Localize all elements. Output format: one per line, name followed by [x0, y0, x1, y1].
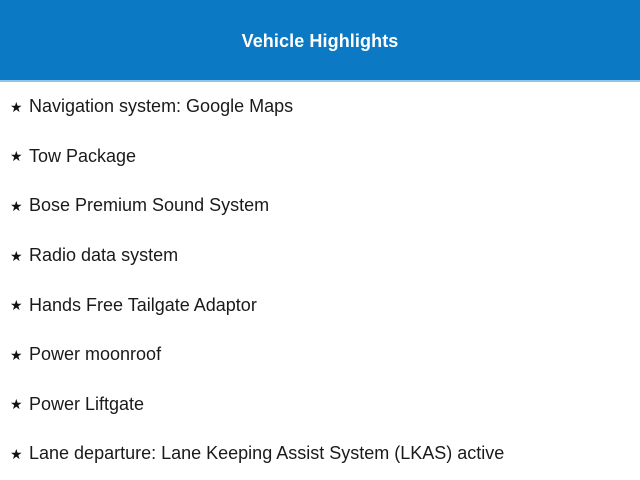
- star-icon: ★: [10, 447, 29, 461]
- list-item: ★ Power Liftgate: [0, 380, 640, 430]
- list-item: ★ Navigation system: Google Maps: [0, 82, 640, 132]
- list-item: ★ Power moonroof: [0, 330, 640, 380]
- star-icon: ★: [10, 298, 29, 312]
- vehicle-highlights-panel: Vehicle Highlights ★ Navigation system: …: [0, 0, 640, 480]
- list-item-label: Navigation system: Google Maps: [29, 96, 293, 117]
- star-icon: ★: [10, 199, 29, 213]
- list-item: ★ Bose Premium Sound System: [0, 181, 640, 231]
- star-icon: ★: [10, 397, 29, 411]
- list-item-label: Power Liftgate: [29, 394, 144, 415]
- star-icon: ★: [10, 348, 29, 362]
- list-item-label: Radio data system: [29, 245, 178, 266]
- star-icon: ★: [10, 249, 29, 263]
- list-item: ★ Tow Package: [0, 132, 640, 182]
- list-item: ★ Hands Free Tailgate Adaptor: [0, 280, 640, 330]
- star-icon: ★: [10, 100, 29, 114]
- list-item-label: Tow Package: [29, 146, 136, 167]
- list-item: ★ Radio data system: [0, 231, 640, 281]
- list-item-label: Bose Premium Sound System: [29, 195, 269, 216]
- highlights-list: ★ Navigation system: Google Maps ★ Tow P…: [0, 82, 640, 479]
- star-icon: ★: [10, 149, 29, 163]
- list-item: ★ Lane departure: Lane Keeping Assist Sy…: [0, 429, 640, 479]
- list-item-label: Lane departure: Lane Keeping Assist Syst…: [29, 443, 504, 464]
- list-item-label: Hands Free Tailgate Adaptor: [29, 295, 257, 316]
- list-item-label: Power moonroof: [29, 344, 161, 365]
- page-title: Vehicle Highlights: [0, 30, 640, 52]
- header-band: Vehicle Highlights: [0, 0, 640, 80]
